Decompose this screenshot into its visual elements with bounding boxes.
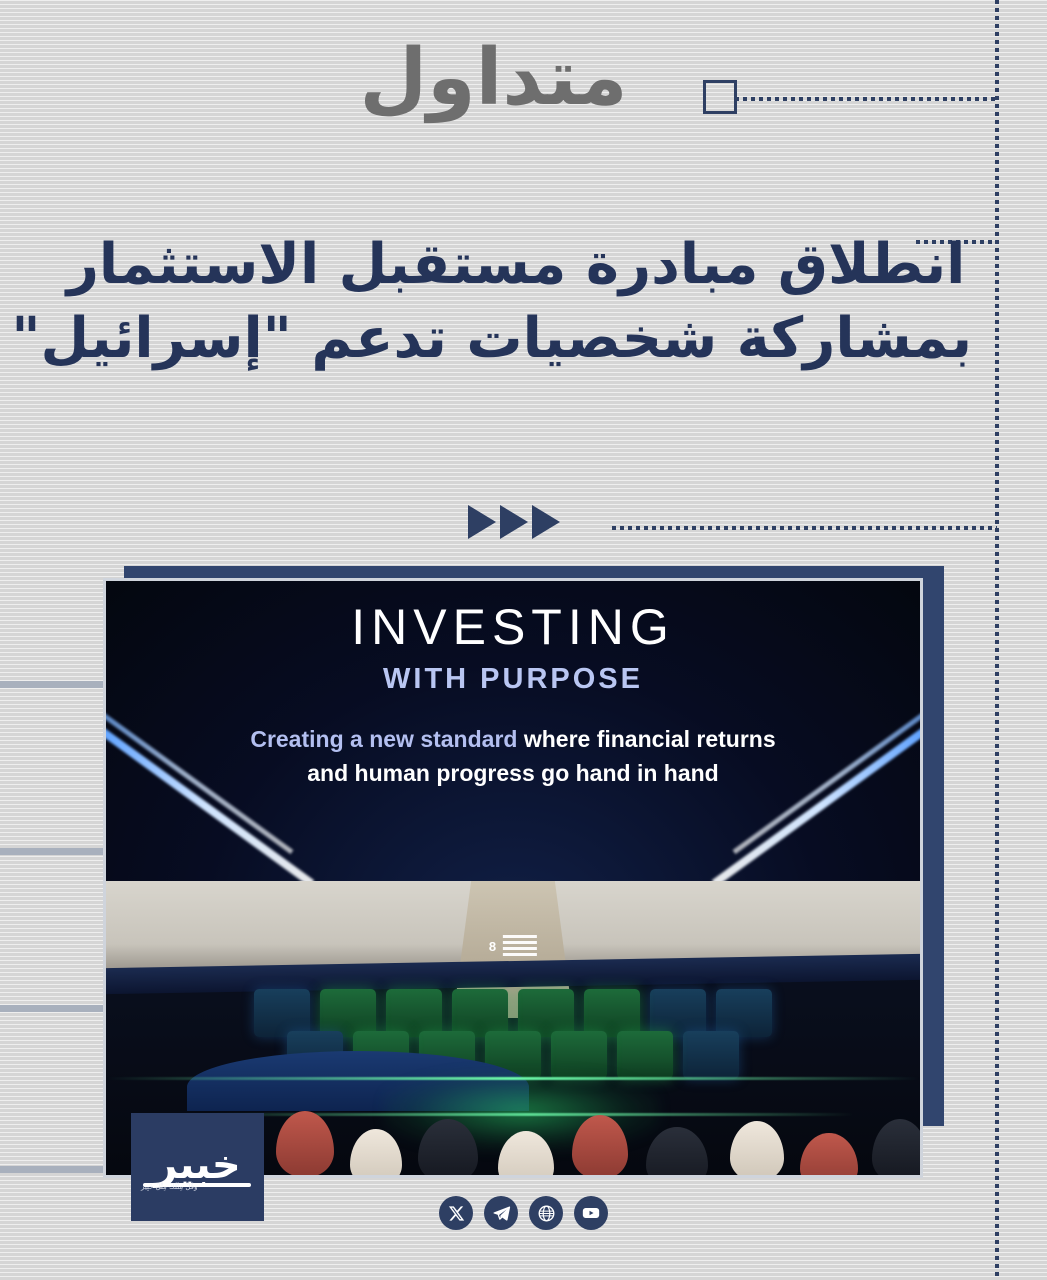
screen-body-line-2: and human progress go hand in hand [106, 756, 920, 791]
chevron-arrows [468, 505, 560, 539]
chevron-right-icon [532, 505, 560, 539]
chair [716, 989, 772, 1037]
audience-head [800, 1133, 858, 1175]
audience-head [730, 1121, 784, 1175]
accent-line [0, 1166, 104, 1173]
accent-line [0, 848, 104, 855]
screen-body-rest: where financial returns [517, 726, 775, 752]
chair [518, 989, 574, 1037]
chevron-right-icon [468, 505, 496, 539]
kicker-label: متداول [0, 36, 1047, 122]
screen-text-block: INVESTING WITH PURPOSE Creating a new st… [106, 581, 920, 881]
chevron-right-icon [500, 505, 528, 539]
brand-logo-glyph: خبير [154, 1145, 240, 1185]
chair [386, 989, 442, 1037]
chair [650, 989, 706, 1037]
youtube-icon[interactable] [574, 1196, 608, 1230]
fii-logo-icon [503, 935, 537, 957]
audience-head [872, 1119, 920, 1175]
horizontal-dotted-guide-middle [612, 526, 997, 530]
vertical-dotted-guide [995, 0, 999, 1280]
screen-body-line-1: Creating a new standard where financial … [106, 722, 920, 757]
chair [584, 989, 640, 1037]
social-links [0, 1196, 1047, 1230]
chair [683, 1031, 739, 1079]
screen-title: INVESTING [106, 599, 920, 657]
chair [452, 989, 508, 1037]
screen-body: Creating a new standard where financial … [106, 722, 920, 791]
page-title: انطلاق مبادرة مستقبل الاستثمار بمشاركة ش… [60, 228, 972, 376]
accent-line [0, 1005, 104, 1012]
x-twitter-icon[interactable] [439, 1196, 473, 1230]
website-globe-icon[interactable] [529, 1196, 563, 1230]
podium-edition-number: 8 [489, 939, 497, 954]
news-photo: INVESTING WITH PURPOSE Creating a new st… [103, 578, 923, 1178]
headline-line-1: انطلاق مبادرة مستقبل الاستثمار [60, 228, 972, 302]
accent-line [0, 681, 104, 688]
audience-head [276, 1111, 334, 1175]
screen-subtitle: WITH PURPOSE [106, 663, 920, 696]
podium-logo: 8 [489, 935, 537, 957]
poster-canvas: متداول انطلاق مبادرة مستقبل الاستثمار بم… [0, 0, 1047, 1280]
screen-body-highlight: Creating a new standard [250, 726, 517, 752]
telegram-icon[interactable] [484, 1196, 518, 1230]
headline-line-2: بمشاركة شخصيات تدعم "إسرائيل" [60, 302, 972, 376]
chair-row [106, 989, 920, 1037]
neon-strip [106, 1077, 920, 1080]
stage-led-screen: INVESTING WITH PURPOSE Creating a new st… [106, 581, 920, 881]
chair [254, 989, 310, 1037]
brand-logo-tagline: وقُلْ مِثْلَكَ مِثْلَ خَبِير [141, 1183, 197, 1191]
chair [320, 989, 376, 1037]
